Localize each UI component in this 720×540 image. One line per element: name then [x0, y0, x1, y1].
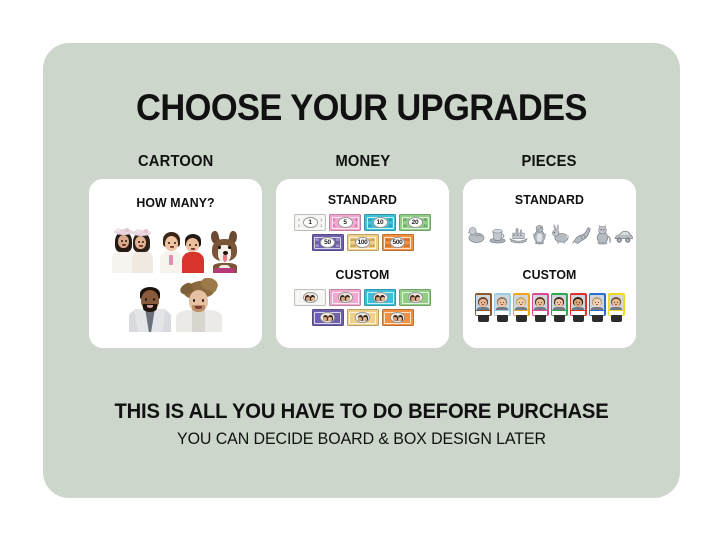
- bill-corner-mark: 5: [333, 224, 335, 228]
- standard-bill-5[interactable]: 55555: [329, 214, 361, 231]
- standee-base: [611, 315, 622, 322]
- standee-card-face: [570, 293, 587, 316]
- money-custom-row-2: [276, 309, 449, 326]
- custom-bill-6[interactable]: [347, 309, 379, 326]
- bill-corner-mark: 5: [333, 218, 335, 222]
- bill-portrait: [303, 292, 318, 304]
- bill-denomination: 10: [373, 217, 388, 229]
- bill-corner-mark: 20: [403, 218, 407, 222]
- standee-base: [535, 315, 546, 322]
- bill-photo: [409, 293, 421, 302]
- standee-photo: [552, 295, 566, 310]
- bill-corner-mark: 50: [336, 238, 340, 242]
- bill-corner-mark: 500: [404, 238, 409, 242]
- bill-corner-mark: 20: [423, 224, 427, 228]
- bill-corner-mark: 100: [369, 238, 374, 242]
- pieces-custom-heading: CUSTOM: [467, 267, 631, 282]
- category-cards-row: CARTOON HOW MANY?: [88, 153, 637, 349]
- standee-name-plate: [476, 311, 490, 315]
- standee-card-face: [589, 293, 606, 316]
- standee-card-face: [494, 293, 511, 316]
- standard-bill-10[interactable]: 1010101010: [364, 214, 396, 231]
- bill-portrait: [408, 292, 423, 304]
- bill-corner-mark: 1: [298, 218, 300, 222]
- upgrades-panel: CHOOSE YOUR UPGRADES CARTOON HOW MANY?: [43, 43, 680, 498]
- standee-4[interactable]: [531, 293, 549, 322]
- footer-sub-text: YOU CAN DECIDE BOARD & BOX DESIGN LATER: [62, 429, 661, 449]
- bill-corner-mark: 100: [369, 244, 374, 248]
- category-money: MONEY STANDARD 1111155555101010101020202…: [275, 153, 450, 349]
- money-standard-row-2: 5050505050100100100100100500500500500500: [276, 234, 449, 251]
- standard-bill-20[interactable]: 2020202020: [399, 214, 431, 231]
- standee-photo: [571, 295, 585, 310]
- bill-photo: [374, 293, 386, 302]
- standee-card-face: [608, 293, 625, 316]
- standee-photo: [533, 295, 547, 310]
- standee-2[interactable]: [493, 293, 511, 322]
- money-card[interactable]: STANDARD 111115555510101010102020202020 …: [275, 178, 450, 349]
- standee-base: [554, 315, 565, 322]
- money-standard-heading: STANDARD: [280, 192, 444, 207]
- cartoon-card[interactable]: HOW MANY?: [88, 178, 263, 349]
- category-label-money: MONEY: [335, 153, 390, 171]
- standard-bill-50[interactable]: 5050505050: [312, 234, 344, 251]
- bill-corner-mark: 10: [388, 218, 392, 222]
- standee-7[interactable]: [588, 293, 606, 322]
- bill-corner-mark: 50: [316, 238, 320, 242]
- standee-card-face: [532, 293, 549, 316]
- bill-corner-mark: 20: [423, 218, 427, 222]
- footer: THIS IS ALL YOU HAVE TO DO BEFORE PURCHA…: [43, 399, 680, 449]
- standee-photo: [476, 295, 490, 310]
- category-cartoon: CARTOON HOW MANY?: [88, 153, 263, 349]
- bill-corner-mark: 10: [388, 224, 392, 228]
- footer-main-text: THIS IS ALL YOU HAVE TO DO BEFORE PURCHA…: [62, 399, 661, 424]
- ship-token[interactable]: [509, 223, 528, 245]
- pieces-custom-standee-row: [463, 293, 636, 322]
- category-label-cartoon: CARTOON: [138, 153, 214, 171]
- bill-corner-mark: 1: [298, 224, 300, 228]
- category-pieces: PIECES STANDARD CUSTOM: [462, 153, 637, 349]
- standee-8[interactable]: [607, 293, 625, 322]
- money-custom-heading: CUSTOM: [280, 267, 444, 282]
- standee-name-plate: [552, 311, 566, 315]
- standee-card-face: [513, 293, 530, 316]
- bill-corner-mark: 20: [403, 224, 407, 228]
- bill-corner-mark: 500: [404, 244, 409, 248]
- bill-corner-mark: 5: [355, 224, 357, 228]
- money-custom-row-1: [276, 289, 449, 306]
- bill-corner-mark: 50: [316, 244, 320, 248]
- custom-bill-4[interactable]: [399, 289, 431, 306]
- standard-bill-500[interactable]: 500500500500500: [382, 234, 414, 251]
- bill-photo: [304, 293, 316, 302]
- standee-name-plate: [514, 311, 528, 315]
- bill-photo: [322, 313, 334, 322]
- standee-base: [573, 315, 584, 322]
- standee-photo: [609, 295, 623, 310]
- bill-denomination: 5: [338, 217, 353, 229]
- standee-name-plate: [590, 311, 604, 315]
- rabbit-token[interactable]: [551, 223, 570, 245]
- page-title: CHOOSE YOUR UPGRADES: [65, 87, 657, 129]
- pieces-standard-token-row: [463, 219, 636, 245]
- standee-card-face: [551, 293, 568, 316]
- avatar-two-brides[interactable]: [111, 223, 155, 273]
- standard-bill-1[interactable]: 11111: [294, 214, 326, 231]
- standee-name-plate: [609, 311, 623, 315]
- penguin-token[interactable]: [530, 223, 549, 245]
- standee-5[interactable]: [550, 293, 568, 322]
- bill-photo: [357, 313, 369, 322]
- avatar-two-children[interactable]: [158, 225, 206, 273]
- standee-1[interactable]: [474, 293, 492, 322]
- custom-bill-2[interactable]: [329, 289, 361, 306]
- bill-photo: [339, 293, 351, 302]
- standee-photo: [590, 295, 604, 310]
- standee-photo: [495, 295, 509, 310]
- cartoon-avatar-row-2: [89, 278, 262, 332]
- standee-name-plate: [495, 311, 509, 315]
- bill-portrait: [338, 292, 353, 304]
- bill-corner-mark: 1: [320, 224, 322, 228]
- custom-bill-7[interactable]: [382, 309, 414, 326]
- standee-base: [592, 315, 603, 322]
- bill-corner-mark: 1: [320, 218, 322, 222]
- bill-corner-mark: 10: [368, 218, 372, 222]
- standee-name-plate: [571, 311, 585, 315]
- custom-bill-5[interactable]: [312, 309, 344, 326]
- bill-photo: [392, 313, 404, 322]
- custom-bill-1[interactable]: [294, 289, 326, 306]
- standee-base: [516, 315, 527, 322]
- standee-3[interactable]: [512, 293, 530, 322]
- duck-token[interactable]: [467, 223, 486, 245]
- pieces-standard-heading: STANDARD: [467, 192, 631, 207]
- avatar-man-messy-hair[interactable]: [174, 278, 224, 332]
- custom-bill-3[interactable]: [364, 289, 396, 306]
- thimble-token[interactable]: [488, 223, 507, 245]
- avatar-husky-dog[interactable]: [209, 225, 240, 273]
- bill-corner-mark: 5: [355, 218, 357, 222]
- bill-corner-mark: 10: [368, 224, 372, 228]
- standee-name-plate: [533, 311, 547, 315]
- cartoon-how-many-heading: HOW MANY?: [93, 195, 257, 210]
- car-token[interactable]: [614, 223, 633, 245]
- standee-6[interactable]: [569, 293, 587, 322]
- cat-token[interactable]: [593, 223, 612, 245]
- bill-denomination: 20: [408, 217, 423, 229]
- bill-corner-mark: 50: [336, 244, 340, 248]
- dinosaur-token[interactable]: [572, 223, 591, 245]
- bill-portrait: [373, 292, 388, 304]
- standard-bill-100[interactable]: 100100100100100: [347, 234, 379, 251]
- pieces-card[interactable]: STANDARD CUSTOM: [462, 178, 637, 349]
- avatar-man-grey-suit[interactable]: [128, 282, 172, 332]
- standee-base: [478, 315, 489, 322]
- cartoon-avatar-row-1: [89, 223, 262, 273]
- money-standard-row-1: 111115555510101010102020202020: [276, 214, 449, 231]
- standee-base: [497, 315, 508, 322]
- screenshot-canvas: CHOOSE YOUR UPGRADES CARTOON HOW MANY?: [0, 0, 720, 540]
- bill-denomination: 1: [303, 217, 318, 229]
- standee-card-face: [475, 293, 492, 316]
- category-label-pieces: PIECES: [522, 153, 577, 171]
- standee-photo: [514, 295, 528, 310]
